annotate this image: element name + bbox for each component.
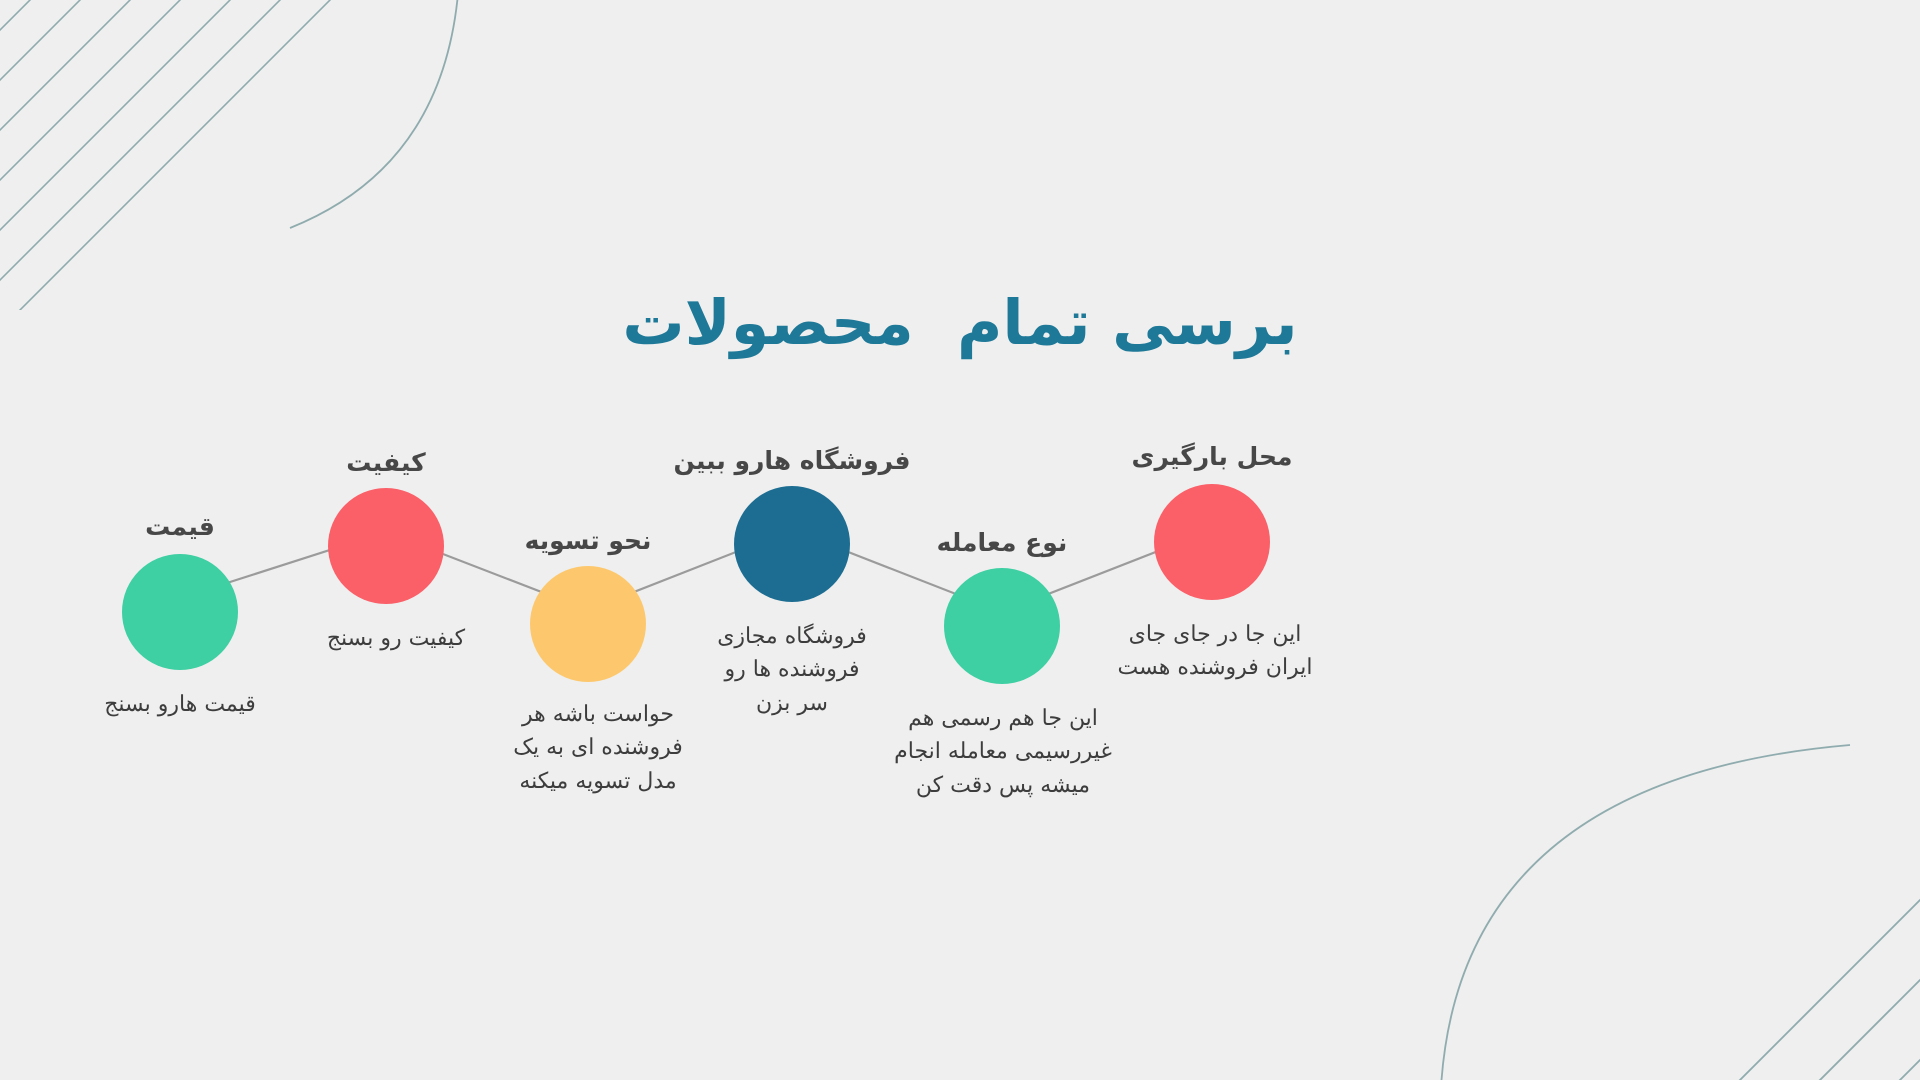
slide-canvas: برسی تمام محصولات قیمت قیمت هارو بسنج کی… (0, 0, 1920, 1080)
step-6-title: محل بارگیری (1032, 442, 1392, 471)
step-6-description: این جا در جای جای ایران فروشنده هست (1010, 618, 1420, 685)
timeline-chart: قیمت قیمت هارو بسنج کیفیت کیفیت رو بسنج … (0, 430, 1920, 950)
diagonal-hatch-quarter-circle-icon (0, 0, 490, 310)
page-title: برسی تمام محصولات (0, 286, 1920, 359)
step-6-circle[interactable] (1154, 484, 1270, 600)
timeline-step-6[interactable]: محل بارگیری این جا در جای جای ایران فروش… (1032, 430, 1392, 850)
